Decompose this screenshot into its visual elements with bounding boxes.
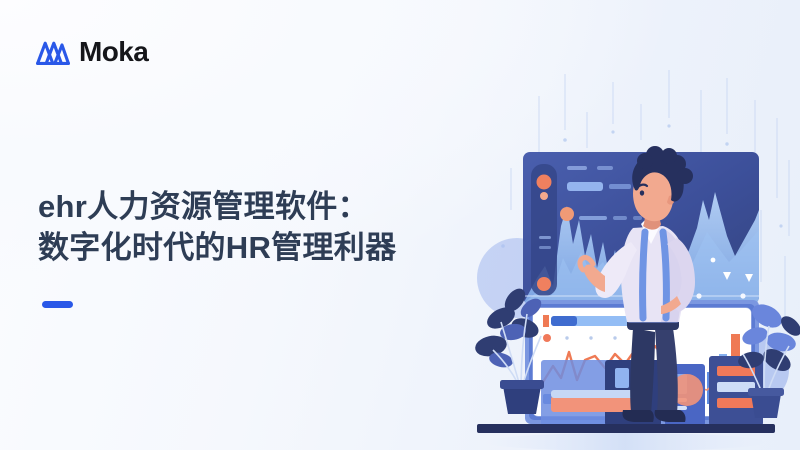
- headline-line-1: ehr人力资源管理软件：: [38, 186, 478, 227]
- moka-logo-icon: [36, 38, 70, 66]
- hero-illustration: [455, 60, 800, 450]
- desk-shelf-line: [477, 424, 775, 433]
- brand-wordmark: Moka: [79, 38, 148, 66]
- headline-block: ehr人力资源管理软件： 数字化时代的HR管理利器: [38, 186, 478, 268]
- headline-line-2: 数字化时代的HR管理利器: [38, 227, 478, 268]
- marketing-banner: Moka ehr人力资源管理软件： 数字化时代的HR管理利器: [0, 0, 800, 450]
- headline-accent-bar: [42, 301, 73, 308]
- desk-shadow: [485, 433, 765, 450]
- brand-logo[interactable]: Moka: [36, 38, 148, 66]
